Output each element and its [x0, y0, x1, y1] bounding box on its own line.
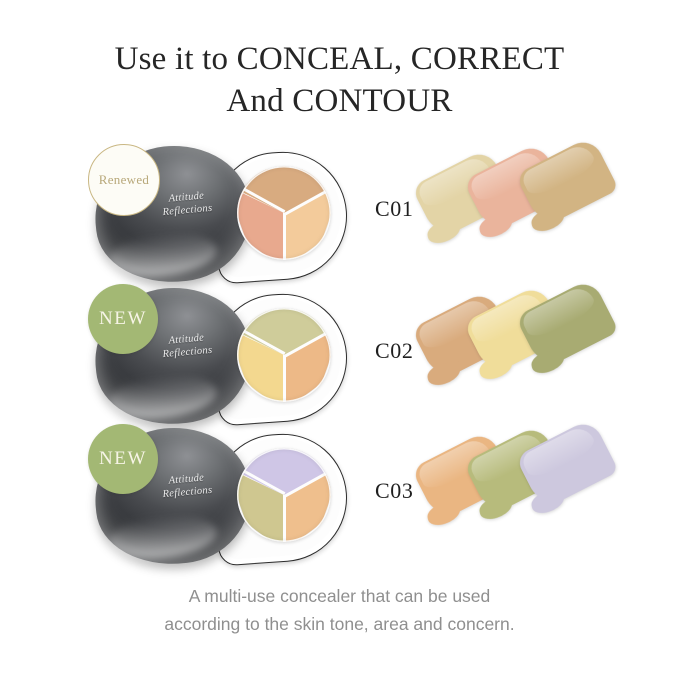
swatch-group-c01: [420, 140, 620, 290]
swatch-group-c02: [420, 282, 620, 432]
page-title: Use it to CONCEAL, CORRECT And CONTOUR: [0, 38, 679, 122]
badge-new: NEW: [88, 284, 158, 354]
compact-c01: Attitude Reflections Renewed: [75, 140, 365, 290]
concealer-pan-c03: [237, 448, 331, 542]
concealer-pan-c02: [237, 308, 331, 402]
shade-code-c03: C03: [375, 478, 413, 504]
compact-c03: Attitude Reflections NEW: [75, 422, 365, 572]
product-row-c01: Attitude Reflections Renewed C01: [0, 140, 679, 290]
concealer-pan-c01: [237, 166, 331, 260]
product-row-c02: Attitude Reflections NEW C02: [0, 282, 679, 432]
shade-code-c02: C02: [375, 338, 413, 364]
title-line-1: Use it to CONCEAL, CORRECT: [0, 38, 679, 80]
badge-renewed: Renewed: [88, 144, 160, 216]
shade-code-c01: C01: [375, 196, 413, 222]
description-line-2: according to the skin tone, area and con…: [0, 610, 679, 638]
product-row-c03: Attitude Reflections NEW C03: [0, 422, 679, 572]
product-infographic: Use it to CONCEAL, CORRECT And CONTOUR A…: [0, 0, 679, 679]
swatch-group-c03: [420, 422, 620, 572]
compact-c02: Attitude Reflections NEW: [75, 282, 365, 432]
description-text: A multi-use concealer that can be used a…: [0, 582, 679, 639]
title-line-2: And CONTOUR: [0, 80, 679, 122]
description-line-1: A multi-use concealer that can be used: [0, 582, 679, 610]
badge-new: NEW: [88, 424, 158, 494]
